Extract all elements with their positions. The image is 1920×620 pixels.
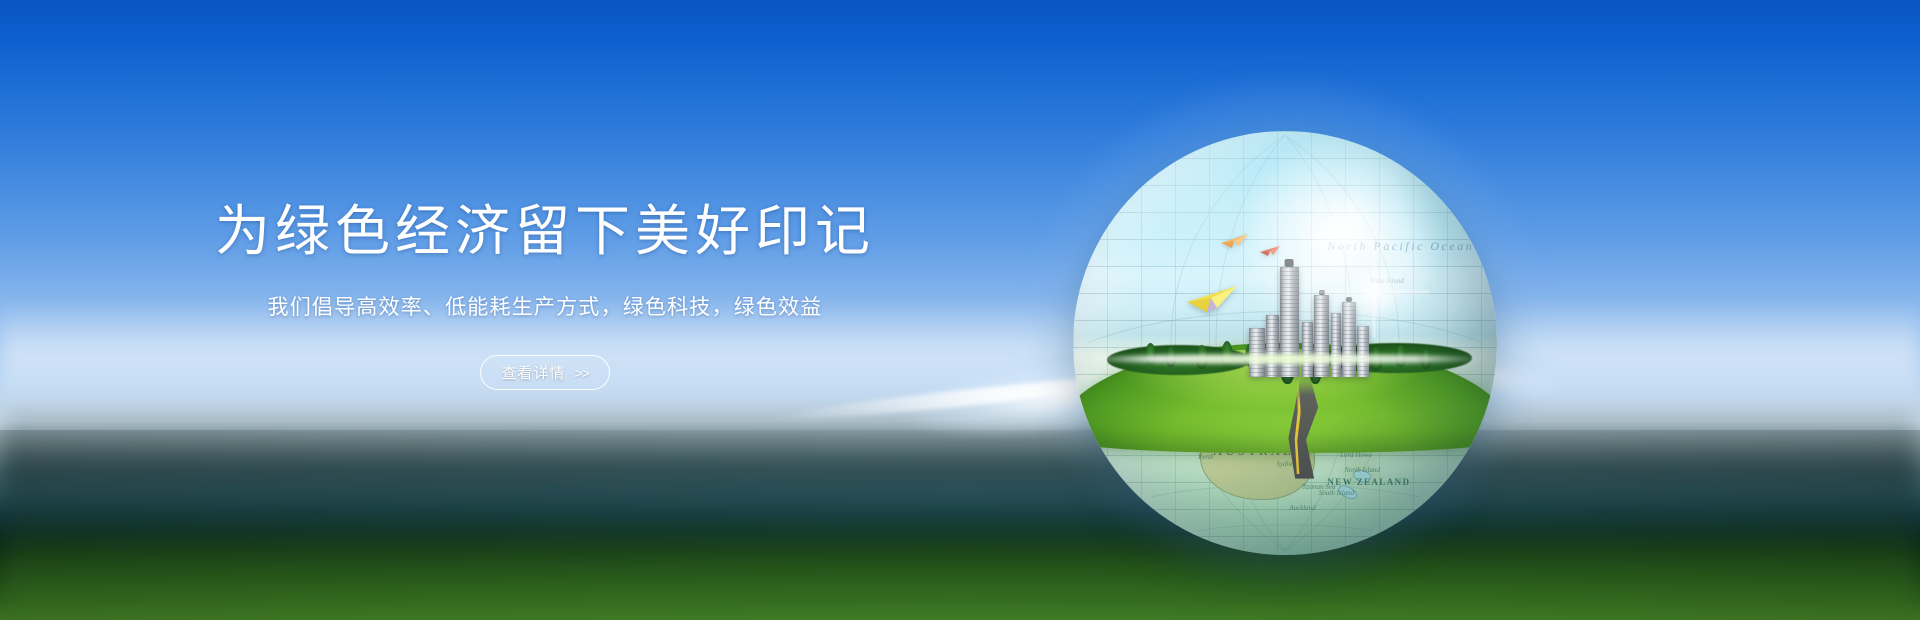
horizon-haze-dark	[0, 400, 1920, 530]
earth-sphere: North Pacific Ocean OCEANIA AUSTRALIA NE…	[1073, 131, 1497, 555]
globe-illustration: North Pacific Ocean OCEANIA AUSTRALIA NE…	[1073, 131, 1497, 555]
cta-label: 查看详情	[501, 362, 565, 383]
building	[1266, 315, 1279, 377]
building	[1331, 313, 1341, 377]
building	[1342, 302, 1356, 377]
building-cap	[1319, 290, 1325, 295]
building	[1357, 326, 1368, 377]
page-title: 为绿色经济留下美好印记	[150, 200, 940, 263]
hero-banner: 为绿色经济留下美好印记 我们倡导高效率、低能耗生产方式，绿色科技，绿色效益 查看…	[0, 0, 1920, 620]
chevron-right-double-icon: >>	[574, 365, 588, 381]
paper-plane-yellow-icon	[1187, 284, 1237, 314]
building-tower	[1280, 267, 1299, 377]
hero-subtitle: 我们倡导高效率、低能耗生产方式，绿色科技，绿色效益	[150, 291, 940, 321]
building	[1249, 328, 1264, 377]
city-skyline	[1247, 267, 1374, 377]
horizon-haze-green	[0, 500, 1920, 620]
ground-vignette	[0, 430, 1920, 620]
tree	[1196, 345, 1208, 369]
building	[1302, 322, 1313, 377]
tree	[1421, 349, 1431, 369]
paper-plane-orange-icon	[1221, 233, 1248, 249]
building-cap	[1285, 259, 1294, 267]
cta-container: 查看详情 >>	[150, 355, 940, 390]
view-details-button[interactable]: 查看详情 >>	[480, 355, 609, 390]
building	[1314, 295, 1329, 377]
paper-plane-red-icon	[1260, 245, 1280, 257]
tree	[1145, 343, 1156, 365]
hero-copy-block: 为绿色经济留下美好印记 我们倡导高效率、低能耗生产方式，绿色科技，绿色效益 查看…	[150, 200, 940, 390]
building-cap	[1346, 297, 1352, 301]
